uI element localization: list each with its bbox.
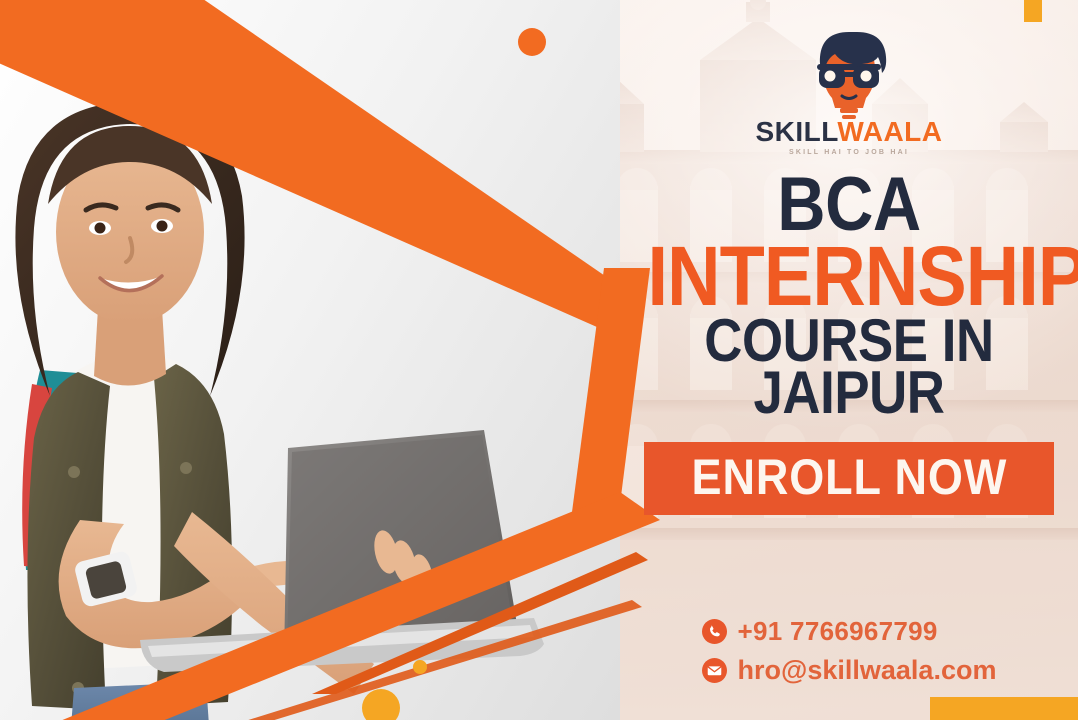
brand-tagline: SKILL HAI TO JOB HAI: [789, 149, 909, 156]
enroll-now-button[interactable]: ENROLL NOW: [644, 442, 1055, 515]
enroll-now-label: ENROLL NOW: [691, 452, 1007, 502]
email-contact-row[interactable]: hro@skillwaala.com: [702, 655, 997, 686]
phone-number: +91 7766967799: [738, 616, 938, 647]
decorative-dot-orange: [518, 28, 546, 56]
contact-block: +91 7766967799 hro@skillwaala.com: [702, 616, 997, 686]
decorative-dot-amber-small: [413, 660, 427, 674]
brand-wordmark: SKILLWAALA: [756, 118, 943, 146]
headline-block: BCA INTERNSHIP COURSE IN JAIPUR: [620, 170, 1078, 420]
student-photo: [0, 0, 620, 720]
promo-banner: SKILLWAALA SKILL HAI TO JOB HAI BCA INTE…: [0, 0, 1078, 720]
headline-line-4: JAIPUR: [647, 365, 1050, 421]
decorative-dot-amber-large: [362, 689, 400, 720]
brand-name-part1: SKILL: [756, 116, 838, 147]
brand-name-part2: WAALA: [837, 116, 942, 147]
phone-icon: [702, 619, 727, 644]
headline-line-2: INTERNSHIP: [647, 237, 1050, 315]
brand-logo[interactable]: SKILLWAALA SKILL HAI TO JOB HAI: [756, 24, 943, 156]
email-icon: [702, 658, 727, 683]
phone-contact-row[interactable]: +91 7766967799: [702, 616, 938, 647]
student-illustration: [0, 40, 570, 720]
content-column: SKILLWAALA SKILL HAI TO JOB HAI BCA INTE…: [620, 0, 1078, 720]
skillwaala-mascot-bulb-icon: [799, 24, 899, 124]
email-address: hro@skillwaala.com: [738, 655, 997, 686]
